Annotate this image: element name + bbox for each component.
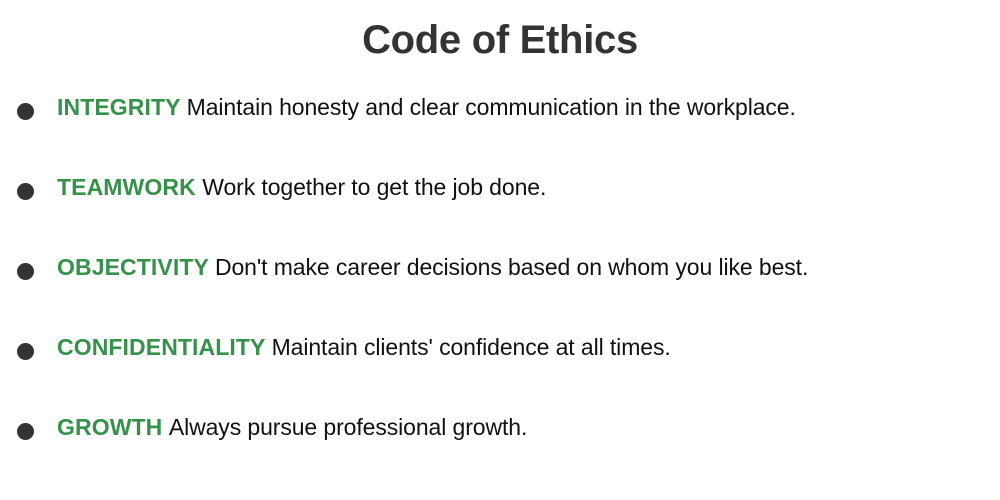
- list-item: CONFIDENTIALITY Maintain clients' confid…: [0, 332, 1000, 412]
- principle-description: Work together to get the job done.: [202, 174, 546, 200]
- ethics-principles-list: INTEGRITY Maintain honesty and clear com…: [0, 92, 1000, 492]
- principle-keyword: INTEGRITY: [57, 94, 187, 120]
- list-item-text: OBJECTIVITY Don't make career decisions …: [57, 252, 808, 282]
- list-item: INTEGRITY Maintain honesty and clear com…: [0, 92, 1000, 172]
- principle-keyword: OBJECTIVITY: [57, 254, 215, 280]
- principle-description: Maintain clients' confidence at all time…: [272, 334, 671, 360]
- principle-keyword: TEAMWORK: [57, 174, 202, 200]
- principle-keyword: CONFIDENTIALITY: [57, 334, 272, 360]
- list-item-text: CONFIDENTIALITY Maintain clients' confid…: [57, 332, 671, 362]
- filled-circle-bullet-icon: [17, 103, 34, 120]
- principle-description: Maintain honesty and clear communication…: [187, 94, 796, 120]
- code-of-ethics-page: Code of Ethics INTEGRITY Maintain honest…: [0, 0, 1000, 500]
- filled-circle-bullet-icon: [17, 183, 34, 200]
- list-item: OBJECTIVITY Don't make career decisions …: [0, 252, 1000, 332]
- principle-keyword: GROWTH: [57, 414, 169, 440]
- filled-circle-bullet-icon: [17, 423, 34, 440]
- principle-description: Don't make career decisions based on who…: [215, 254, 808, 280]
- principle-description: Always pursue professional growth.: [169, 414, 527, 440]
- list-item: GROWTH Always pursue professional growth…: [0, 412, 1000, 492]
- filled-circle-bullet-icon: [17, 343, 34, 360]
- list-item-text: GROWTH Always pursue professional growth…: [57, 412, 527, 442]
- filled-circle-bullet-icon: [17, 263, 34, 280]
- list-item-text: TEAMWORK Work together to get the job do…: [57, 172, 546, 202]
- page-title: Code of Ethics: [0, 14, 1000, 66]
- list-item: TEAMWORK Work together to get the job do…: [0, 172, 1000, 252]
- list-item-text: INTEGRITY Maintain honesty and clear com…: [57, 92, 796, 122]
